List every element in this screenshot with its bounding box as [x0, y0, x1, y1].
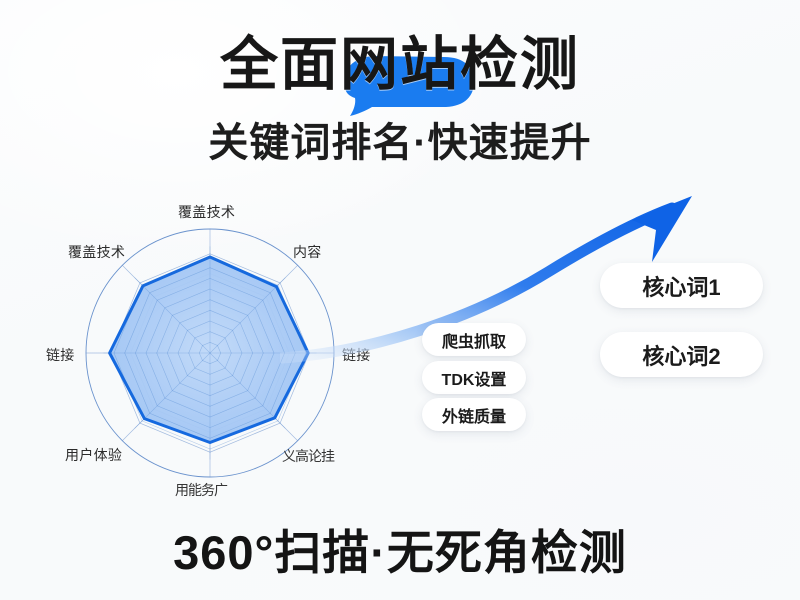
radar-label-bottom: 用能务广	[175, 480, 227, 500]
pill-keyword-1[interactable]: 核心词1	[600, 263, 763, 308]
radar-label-top-left: 覆盖技术	[68, 242, 125, 262]
radar-label-bottom-left: 用户体验	[65, 445, 122, 465]
radar-label-left: 链接	[46, 345, 75, 365]
pill-keyword-2[interactable]: 核心词2	[600, 332, 763, 377]
poster-canvas: 全面网站检测 关键词排名·快速提升 覆盖技术 内容 链接 义高论挂 用能务广 用…	[0, 0, 800, 600]
pill-keyword-1-label: 核心词1	[642, 270, 720, 302]
pill-crawl[interactable]: 爬虫抓取	[422, 323, 526, 356]
page-title: 全面网站检测	[0, 30, 800, 100]
pill-tdk[interactable]: TDK设置	[422, 361, 526, 394]
title-block: 全面网站检测	[0, 30, 800, 100]
pill-backlink-quality-label: 外链质量	[442, 403, 506, 427]
pill-keyword-2-label: 核心词2	[642, 339, 720, 371]
pill-crawl-label: 爬虫抓取	[442, 328, 506, 352]
pill-backlink-quality[interactable]: 外链质量	[422, 398, 526, 431]
footer-tagline: 360°扫描·无死角检测	[0, 524, 800, 582]
radar-label-top: 覆盖技术	[178, 202, 235, 222]
page-subtitle: 关键词排名·快速提升	[0, 118, 800, 168]
pill-tdk-label: TDK设置	[442, 366, 507, 390]
radar-label-bottom-right: 义高论挂	[282, 446, 334, 466]
